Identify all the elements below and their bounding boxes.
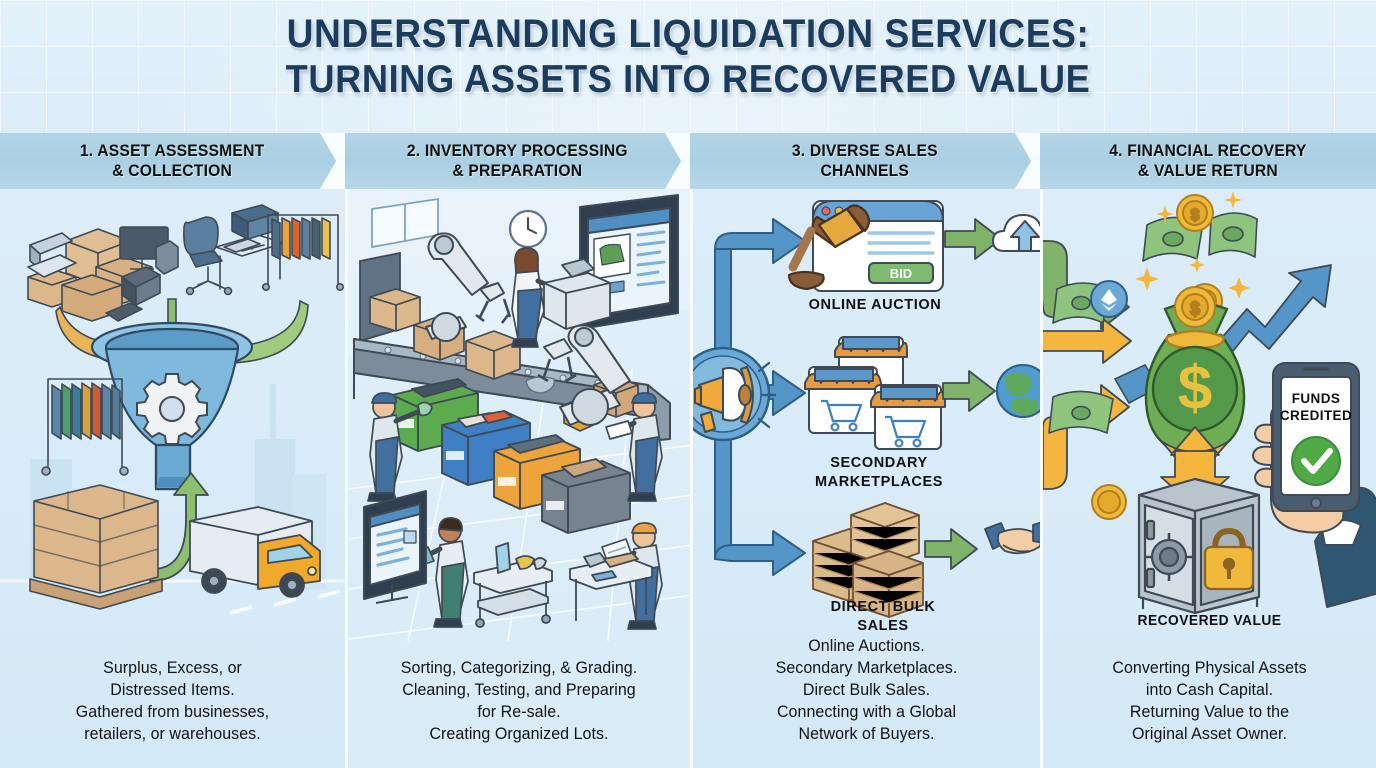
panel-inventory-processing: Sorting, Categorizing, & Grading. Cleani… <box>345 189 690 768</box>
chevron-divider-icon <box>1015 133 1041 189</box>
svg-text:$: $ <box>1191 207 1200 224</box>
stage-header-band: 1. ASSET ASSESSMENT & COLLECTION 2. INVE… <box>0 133 1376 189</box>
stage-header-1-label: 1. ASSET ASSESSMENT & COLLECTION <box>80 141 264 181</box>
stage-header-4-label: 4. FINANCIAL RECOVERY & VALUE RETURN <box>1109 141 1306 181</box>
stage-header-3: 3. DIVERSE SALES CHANNELS <box>690 133 1040 189</box>
check-circle-icon <box>1292 437 1340 485</box>
chevron-divider-icon <box>665 133 691 189</box>
panel-sales-channels: BID ONLINE AUCTION <box>690 189 1040 768</box>
sales-channels-illustration: BID ONLINE AUCTION <box>693 189 1040 641</box>
money-bag-dollar-symbol: $ <box>1178 354 1212 423</box>
channel-2-label-line2: MARKETPLACES <box>815 474 943 490</box>
scene-sales-channels: BID ONLINE AUCTION <box>693 189 1040 641</box>
stage-header-4: 4. FINANCIAL RECOVERY & VALUE RETURN <box>1040 133 1376 189</box>
scene-warehouse-processing <box>348 189 690 641</box>
channel-2-label-line1: SECONDARY <box>830 455 928 471</box>
auction-bid-button-label: BID <box>890 266 912 281</box>
panel-2-caption: Sorting, Categorizing, & Grading. Cleani… <box>361 658 677 746</box>
recovered-value-label: RECOVERED VALUE <box>1051 613 1367 630</box>
stage-panels: Surplus, Excess, or Distressed Items. Ga… <box>0 189 1376 768</box>
scene-recovered-value: $ $ <box>1043 189 1376 641</box>
recovered-value-illustration: $ $ <box>1043 189 1376 641</box>
stage-header-2-label: 2. INVENTORY PROCESSING & PREPARATION <box>407 141 628 181</box>
warehouse-processing-illustration <box>348 189 690 641</box>
channel-3-label-line2: SALES <box>857 618 908 634</box>
panel-3-caption: Online Auctions. Secondary Marketplaces.… <box>706 636 1027 746</box>
title-line-1: UNDERSTANDING LIQUIDATION SERVICES: <box>48 14 1328 56</box>
page-title: UNDERSTANDING LIQUIDATION SERVICES: TURN… <box>0 14 1376 100</box>
phone-notification-line2: CREDITED <box>1280 408 1352 423</box>
panel-financial-recovery: $ $ <box>1040 189 1376 768</box>
stage-header-1: 1. ASSET ASSESSMENT & COLLECTION <box>0 133 345 189</box>
channel-1-label: ONLINE AUCTION <box>809 297 942 313</box>
infographic-root: UNDERSTANDING LIQUIDATION SERVICES: TURN… <box>0 0 1376 768</box>
scene-asset-collection <box>0 189 345 641</box>
stage-header-2: 2. INVENTORY PROCESSING & PREPARATION <box>345 133 690 189</box>
chevron-divider-icon <box>320 133 346 189</box>
svg-text:$: $ <box>1190 299 1200 319</box>
phone-notification-line1: FUNDS <box>1292 391 1341 406</box>
panel-asset-assessment: Surplus, Excess, or Distressed Items. Ga… <box>0 189 345 768</box>
channel-3-label-line1: DIRECT BULK <box>831 599 936 615</box>
panel-1-caption: Surplus, Excess, or Distressed Items. Ga… <box>13 658 332 746</box>
title-line-2: TURNING ASSETS INTO RECOVERED VALUE <box>48 60 1328 101</box>
asset-collection-illustration <box>0 189 345 641</box>
panel-4-caption: Converting Physical Assets into Cash Cap… <box>1056 658 1363 746</box>
stage-header-3-label: 3. DIVERSE SALES CHANNELS <box>792 141 938 181</box>
